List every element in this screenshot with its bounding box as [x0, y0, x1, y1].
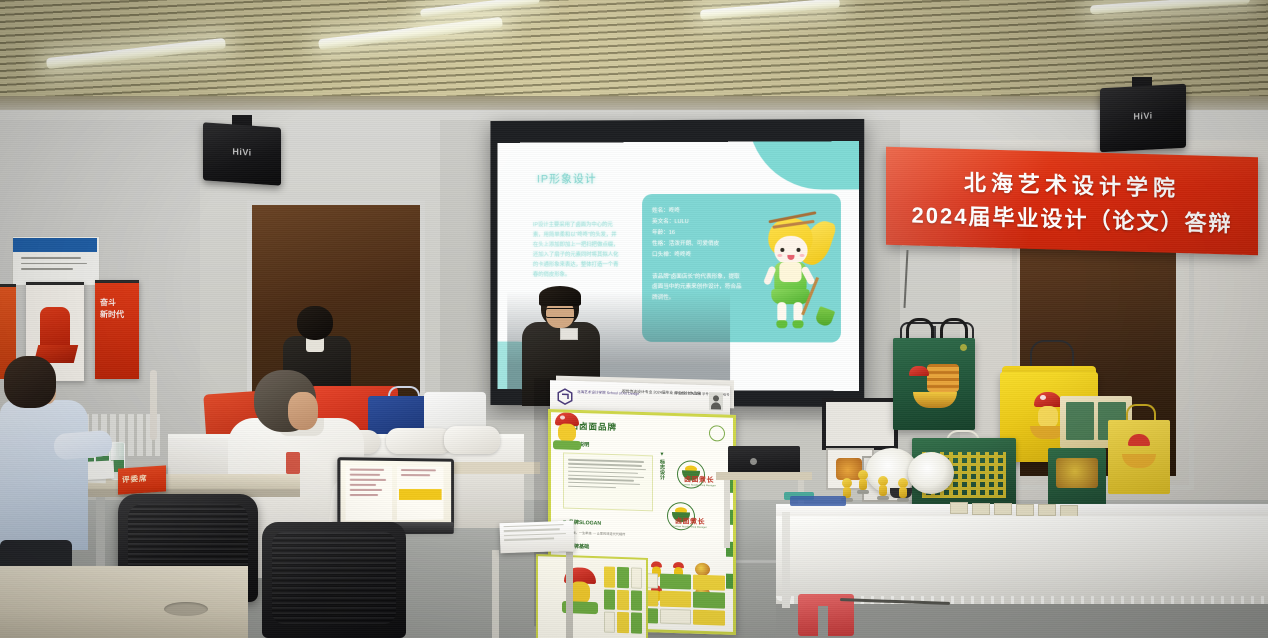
tote-mascot-hat: [909, 366, 929, 376]
desk-cable-grommet: [164, 602, 208, 616]
poster-color-tab: [726, 574, 734, 589]
wall-banner-red: 奋斗新时代: [95, 280, 139, 379]
notice-board-header: [13, 238, 97, 252]
judge-blue-shirt-head: [4, 356, 56, 408]
business-card: [1016, 504, 1034, 516]
mascot-figurine: [856, 470, 870, 496]
business-card: [950, 502, 968, 514]
green-tote-bag-product: [893, 338, 975, 430]
photo-head: [713, 395, 719, 401]
name-tent-text: 评委席: [122, 473, 148, 486]
bag-mascot-hat-dot: [1040, 395, 1046, 400]
speaker-brand-label: HiVi: [203, 144, 281, 159]
tote-noodle-stack: [927, 364, 959, 392]
wall-speaker-left: HiVi: [203, 122, 281, 185]
stool-gap: [818, 606, 828, 636]
shelf-leg: [724, 480, 730, 548]
table-leg: [566, 552, 573, 638]
bag-mascot-hat: [1034, 392, 1062, 407]
bag-mascot-body: [1038, 406, 1058, 428]
kraft-bag-print: [1118, 434, 1160, 474]
mascot-body: [558, 423, 576, 442]
ceramic-plate-product: [908, 452, 954, 494]
business-card: [1038, 504, 1056, 516]
equipment-shelf: [716, 472, 812, 480]
display-item-blue: [790, 496, 846, 506]
cushion-item: [444, 426, 500, 454]
business-card: [994, 503, 1012, 515]
gift-box-panel: [1066, 402, 1094, 440]
photo-body: [711, 402, 721, 409]
poster-pattern-grid: [604, 566, 642, 633]
audio-amplifier[interactable]: [728, 446, 800, 474]
chair-mesh-back: [272, 532, 396, 624]
poster-seal-icon: [709, 425, 725, 442]
wall-vent: [560, 328, 578, 340]
judge-blue-shirt-arm: [53, 430, 113, 461]
small-gift-box-product: [1048, 448, 1106, 510]
presenter-hair: [539, 286, 581, 306]
judge-badge: [286, 452, 300, 474]
tote-bag-print: [905, 364, 963, 412]
mascot-base: [553, 440, 581, 450]
person-at-door-head: [297, 306, 333, 340]
framed-picture: [822, 398, 898, 450]
tote-bowl: [913, 392, 957, 408]
foreground-desk: [0, 566, 248, 638]
judge-white-shirt-face: [288, 392, 318, 430]
wall-pipe: [150, 370, 157, 440]
kraft-paper-bag-product: [1108, 420, 1170, 494]
mascot-figurine: [896, 478, 910, 504]
school-logo-icon: [556, 387, 574, 406]
speaker-brand-label: HiVi: [1100, 109, 1186, 124]
poster-section-heading-vertical: ▼ 标志设计: [659, 452, 666, 480]
amplifier-knob[interactable]: [750, 458, 757, 465]
mascot-hat-dot: [560, 415, 565, 419]
secondary-poster: [536, 554, 648, 638]
poster-slogan-text: 一碗卤面，一生牵挂 — 让家的味道代代相传: [563, 531, 647, 539]
display-table-cloth: [776, 516, 1268, 604]
display-table-leg: [782, 512, 790, 608]
laptop-document-left: [346, 465, 392, 520]
judge-blue-shirt-body: [0, 400, 88, 550]
poster-design-description: [563, 453, 653, 512]
wall-banner-text: 奋斗新时代: [100, 297, 134, 321]
laptop-screen[interactable]: [337, 457, 454, 531]
business-card: [972, 503, 990, 515]
tote-decor-dot: [960, 344, 967, 351]
mascot-figurine: [876, 476, 890, 502]
paper-stack[interactable]: [499, 521, 574, 554]
wall-speaker-right: HiVi: [1100, 84, 1186, 153]
event-banner: 北海艺术设计学院 2024届毕业设计（论文）答辩: [886, 147, 1258, 255]
bag-bowl: [1122, 454, 1156, 468]
bag-mascot-hat: [1128, 434, 1150, 446]
cushion-item: [386, 428, 452, 454]
gift-box-label: [1056, 458, 1098, 488]
name-tent-card: 评委席: [118, 465, 166, 494]
presenter-glasses: [545, 308, 577, 318]
table-leg: [492, 550, 499, 638]
poster-student-photo: [709, 392, 723, 410]
laptop-highlight-row: [399, 489, 442, 500]
banner-glare: [886, 147, 1258, 255]
classroom-defense-scene: HiVi HiVi 奋斗新时代 IP形象设计 IP设计主要采用了卤面为中心的元素…: [0, 0, 1268, 638]
